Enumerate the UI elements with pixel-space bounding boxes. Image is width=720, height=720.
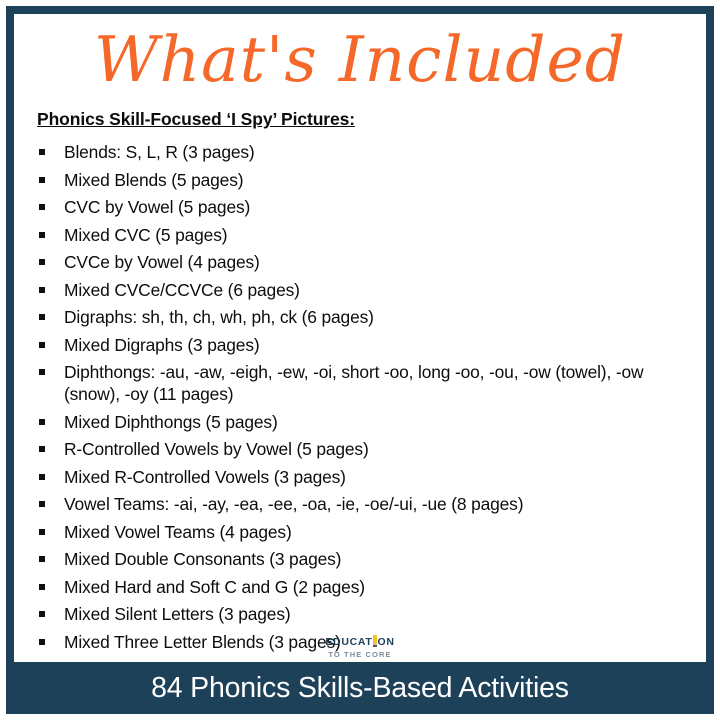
list-item: Mixed Diphthongs (5 pages) — [39, 411, 692, 433]
square-bullet-icon — [39, 611, 45, 617]
list-item: Mixed Double Consonants (3 pages) — [39, 548, 692, 570]
pencil-icon — [373, 635, 377, 647]
page-title: What's Included — [28, 14, 692, 100]
square-bullet-icon — [39, 529, 45, 535]
list-item-label: CVCe by Vowel (4 pages) — [64, 252, 260, 272]
list-item-label: R-Controlled Vowels by Vowel (5 pages) — [64, 439, 369, 459]
square-bullet-icon — [39, 419, 45, 425]
square-bullet-icon — [39, 584, 45, 590]
list-item-label: Mixed Double Consonants (3 pages) — [64, 549, 341, 569]
logo-wordmark-first: EDUCAT — [325, 636, 372, 648]
square-bullet-icon — [39, 342, 45, 348]
list-item: Mixed CVCe/CCVCe (6 pages) — [39, 279, 692, 301]
list-item-label: Mixed Diphthongs (5 pages) — [64, 412, 278, 432]
list-item-label: Mixed Hard and Soft C and G (2 pages) — [64, 577, 365, 597]
square-bullet-icon — [39, 177, 45, 183]
square-bullet-icon — [39, 446, 45, 452]
square-bullet-icon — [39, 287, 45, 293]
list-item-label: CVC by Vowel (5 pages) — [64, 197, 250, 217]
list-item-label: Mixed Blends (5 pages) — [64, 170, 243, 190]
list-item: Mixed Hard and Soft C and G (2 pages) — [39, 576, 692, 598]
section-heading: Phonics Skill-Focused ‘I Spy’ Pictures: — [37, 109, 692, 130]
list-item: CVC by Vowel (5 pages) — [39, 196, 692, 218]
logo-wordmark: EDUCATON — [325, 635, 394, 648]
list-item: Mixed CVC (5 pages) — [39, 224, 692, 246]
slide-border-frame: What's Included Phonics Skill-Focused ‘I… — [6, 6, 714, 714]
square-bullet-icon — [39, 369, 45, 375]
list-item-label: Digraphs: sh, th, ch, wh, ph, ck (6 page… — [64, 307, 374, 327]
list-item: Digraphs: sh, th, ch, wh, ph, ck (6 page… — [39, 306, 692, 328]
list-item: Mixed R-Controlled Vowels (3 pages) — [39, 466, 692, 488]
square-bullet-icon — [39, 314, 45, 320]
list-item-label: Mixed R-Controlled Vowels (3 pages) — [64, 467, 346, 487]
footer-banner: 84 Phonics Skills-Based Activities — [6, 662, 714, 714]
list-item: Mixed Digraphs (3 pages) — [39, 334, 692, 356]
list-item-label: Mixed Vowel Teams (4 pages) — [64, 522, 292, 542]
square-bullet-icon — [39, 149, 45, 155]
list-item-label: Vowel Teams: -ai, -ay, -ea, -ee, -oa, -i… — [64, 494, 523, 514]
footer-title: 84 Phonics Skills-Based Activities — [151, 672, 569, 705]
list-item: Mixed Silent Letters (3 pages) — [39, 603, 692, 625]
list-item: Diphthongs: -au, -aw, -eigh, -ew, -oi, s… — [39, 361, 692, 405]
list-item-label: Diphthongs: -au, -aw, -eigh, -ew, -oi, s… — [64, 362, 643, 404]
square-bullet-icon — [39, 501, 45, 507]
list-item: CVCe by Vowel (4 pages) — [39, 251, 692, 273]
list-item: Vowel Teams: -ai, -ay, -ea, -ee, -oa, -i… — [39, 493, 692, 515]
square-bullet-icon — [39, 259, 45, 265]
list-item-label: Mixed Silent Letters (3 pages) — [64, 604, 291, 624]
logo-tagline: TO THE CORE — [14, 651, 706, 659]
list-item-label: Mixed Digraphs (3 pages) — [64, 335, 260, 355]
list-item: Mixed Blends (5 pages) — [39, 169, 692, 191]
list-item-label: Mixed CVC (5 pages) — [64, 225, 227, 245]
square-bullet-icon — [39, 204, 45, 210]
education-to-the-core-logo: EDUCATON TO THE CORE — [14, 633, 706, 658]
list-item-label: Blends: S, L, R (3 pages) — [64, 142, 255, 162]
list-item: Mixed Vowel Teams (4 pages) — [39, 521, 692, 543]
slide: What's Included Phonics Skill-Focused ‘I… — [0, 0, 720, 720]
included-items-list: Blends: S, L, R (3 pages) Mixed Blends (… — [28, 141, 692, 653]
list-item: R-Controlled Vowels by Vowel (5 pages) — [39, 438, 692, 460]
square-bullet-icon — [39, 474, 45, 480]
list-item-label: Mixed CVCe/CCVCe (6 pages) — [64, 280, 300, 300]
square-bullet-icon — [39, 556, 45, 562]
square-bullet-icon — [39, 232, 45, 238]
logo-wordmark-last: ON — [378, 636, 395, 648]
list-item: Blends: S, L, R (3 pages) — [39, 141, 692, 163]
slide-content: What's Included Phonics Skill-Focused ‘I… — [14, 14, 706, 706]
